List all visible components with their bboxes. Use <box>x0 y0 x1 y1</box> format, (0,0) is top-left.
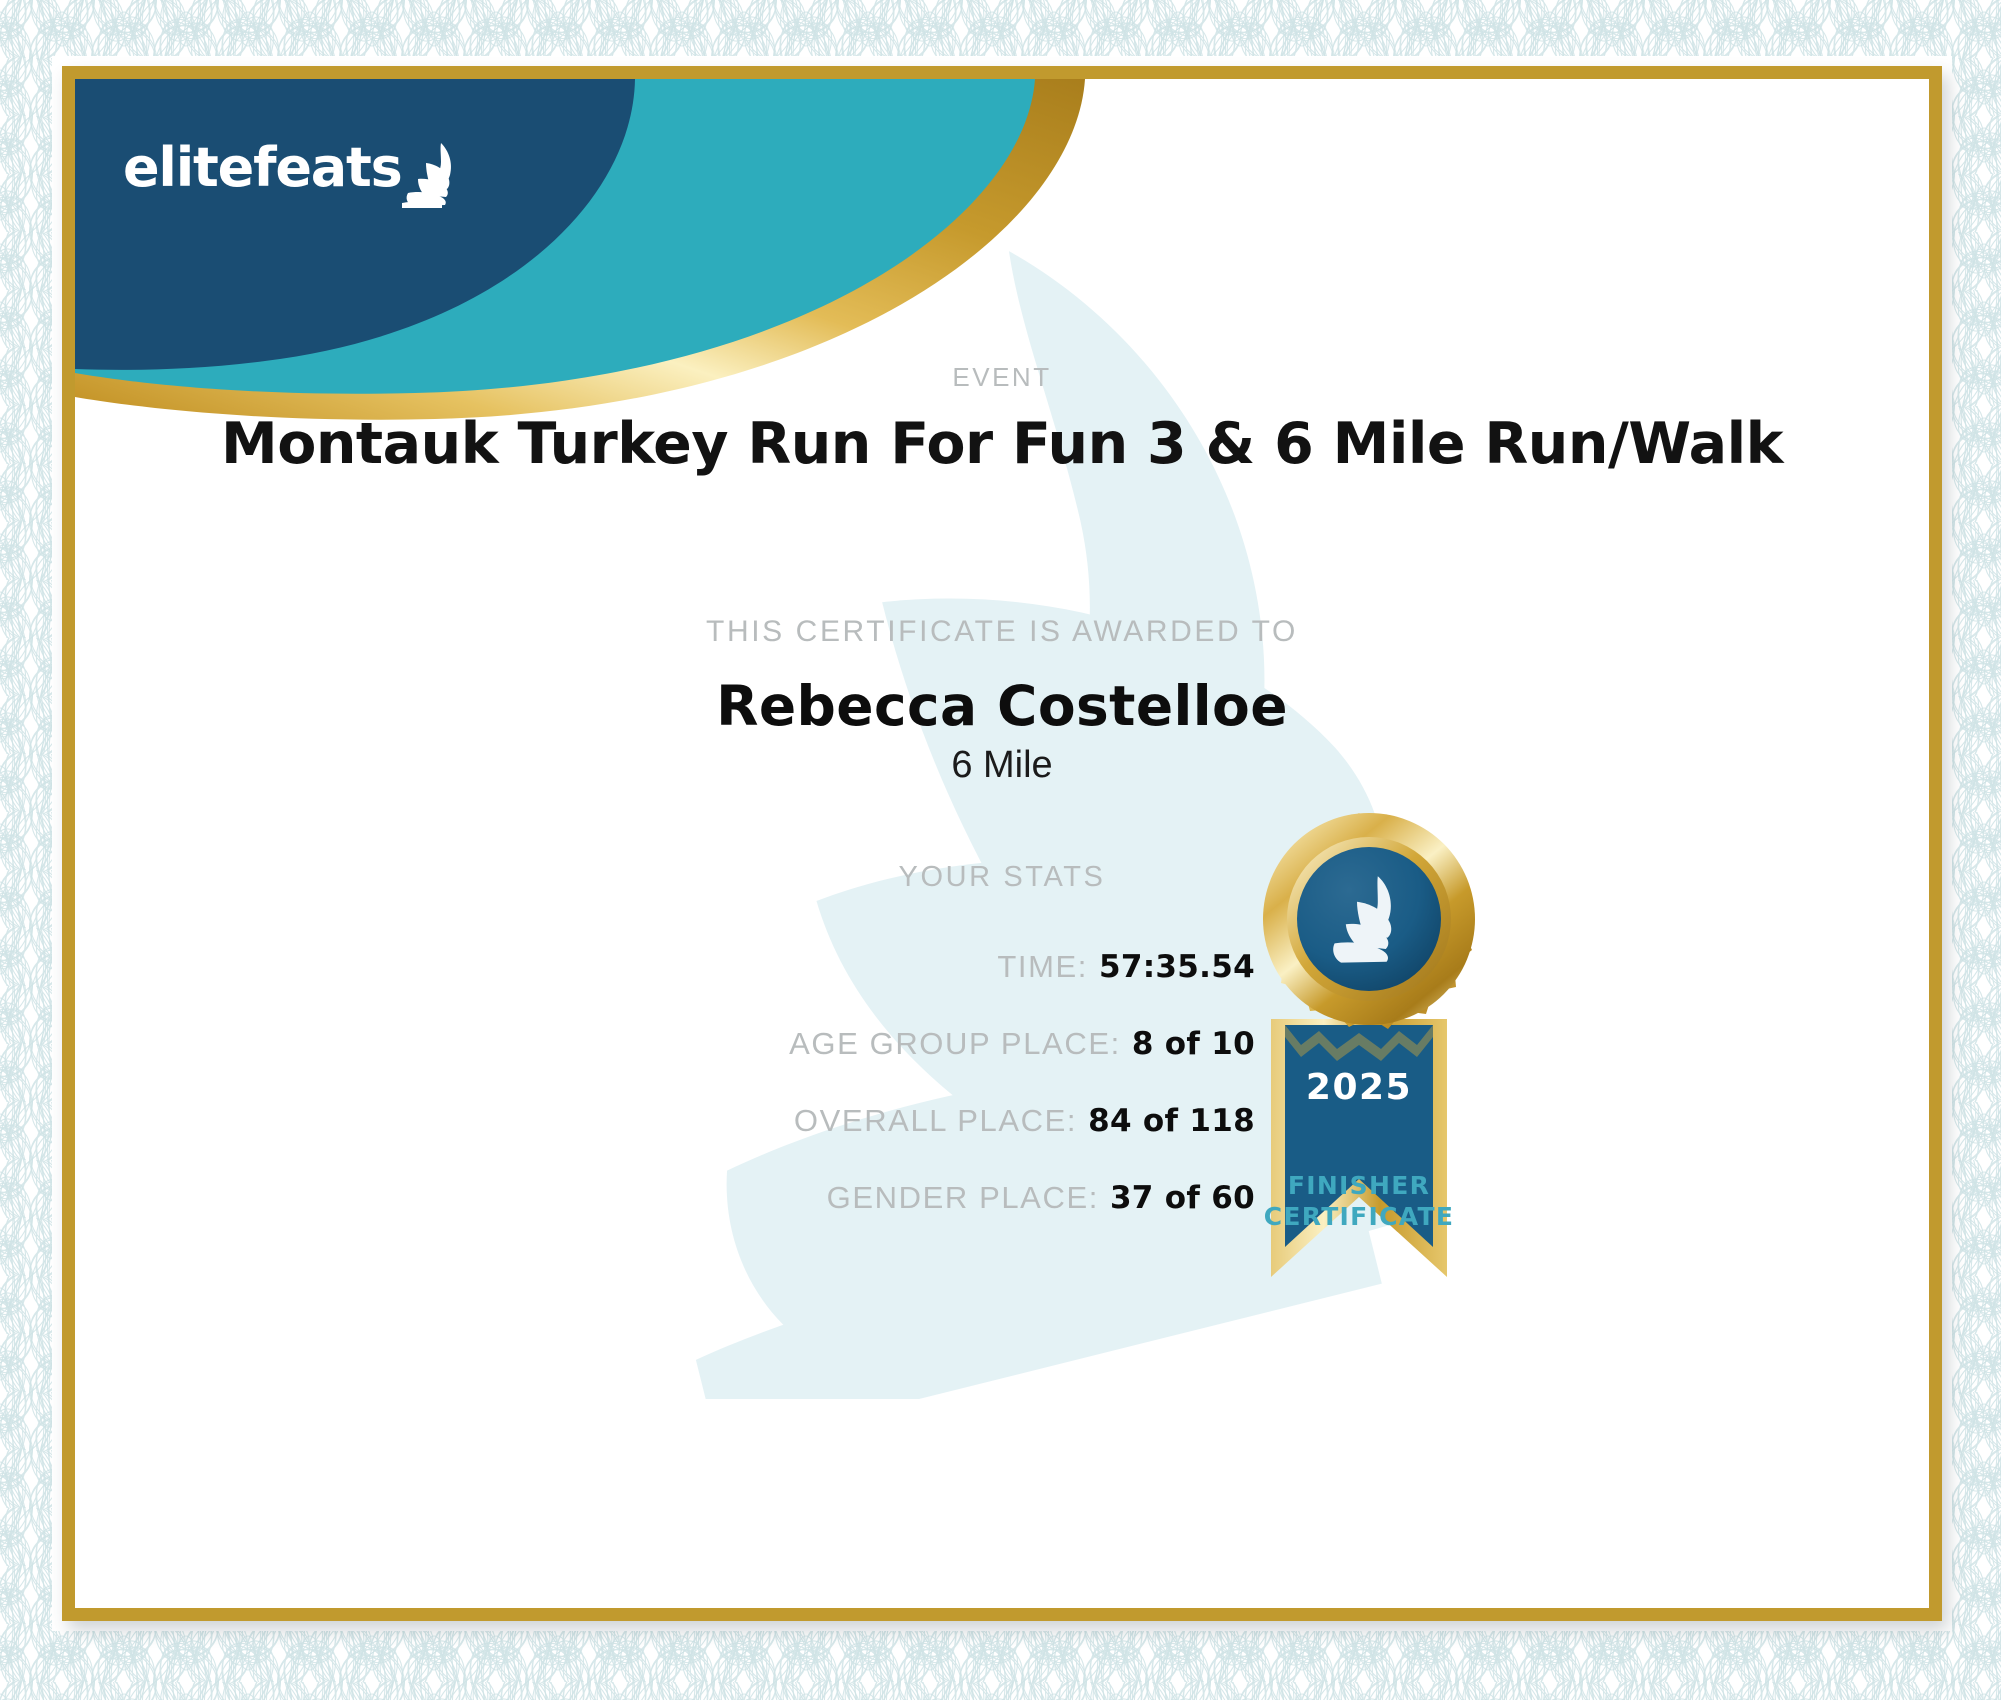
medal-disc <box>1263 813 1475 1029</box>
stat-key: AGE GROUP PLACE: <box>789 1016 1121 1072</box>
winged-foot-icon <box>400 141 462 209</box>
event-label: EVENT <box>75 362 1929 393</box>
recipient-name: Rebecca Costelloe <box>75 674 1929 738</box>
certificate-content: EVENT Montauk Turkey Run For Fun 3 & 6 M… <box>75 79 1929 1608</box>
stat-key: GENDER PLACE: <box>827 1170 1099 1226</box>
stat-key: OVERALL PLACE: <box>794 1093 1077 1149</box>
ribbon-year: 2025 <box>1306 1067 1412 1108</box>
badge-caption-line2: CERTIFICATE <box>1209 1202 1509 1233</box>
stat-row-age-group-place: AGE GROUP PLACE: 8 of 10 <box>75 1016 1255 1072</box>
ribbon: 2025 <box>1271 1019 1447 1277</box>
badge-caption-line1: FINISHER <box>1209 1171 1509 1202</box>
badge-caption: FINISHER CERTIFICATE <box>1209 1171 1509 1232</box>
stat-key: TIME: <box>997 939 1088 995</box>
stats-list: TIME: 57:35.54 AGE GROUP PLACE: 8 of 10 … <box>75 939 1255 1247</box>
stat-row-time: TIME: 57:35.54 <box>75 939 1255 995</box>
logo-wordmark: elitefeats <box>123 141 402 195</box>
elitefeats-logo: elitefeats <box>123 141 462 195</box>
stat-row-overall-place: OVERALL PLACE: 84 of 118 <box>75 1093 1255 1149</box>
recipient-distance: 6 Mile <box>75 744 1929 787</box>
awarded-to-label: THIS CERTIFICATE IS AWARDED TO <box>75 615 1929 649</box>
event-title: Montauk Turkey Run For Fun 3 & 6 Mile Ru… <box>75 411 1929 477</box>
finisher-medal-badge: 2025 <box>1209 799 1509 1319</box>
certificate-card: elitefeats <box>62 66 1942 1621</box>
certificate-page: elitefeats <box>0 0 2001 1700</box>
certificate-body: elitefeats <box>75 79 1929 1608</box>
your-stats-label: YOUR STATS <box>75 861 1929 894</box>
stat-row-gender-place: GENDER PLACE: 37 of 60 <box>75 1170 1255 1226</box>
